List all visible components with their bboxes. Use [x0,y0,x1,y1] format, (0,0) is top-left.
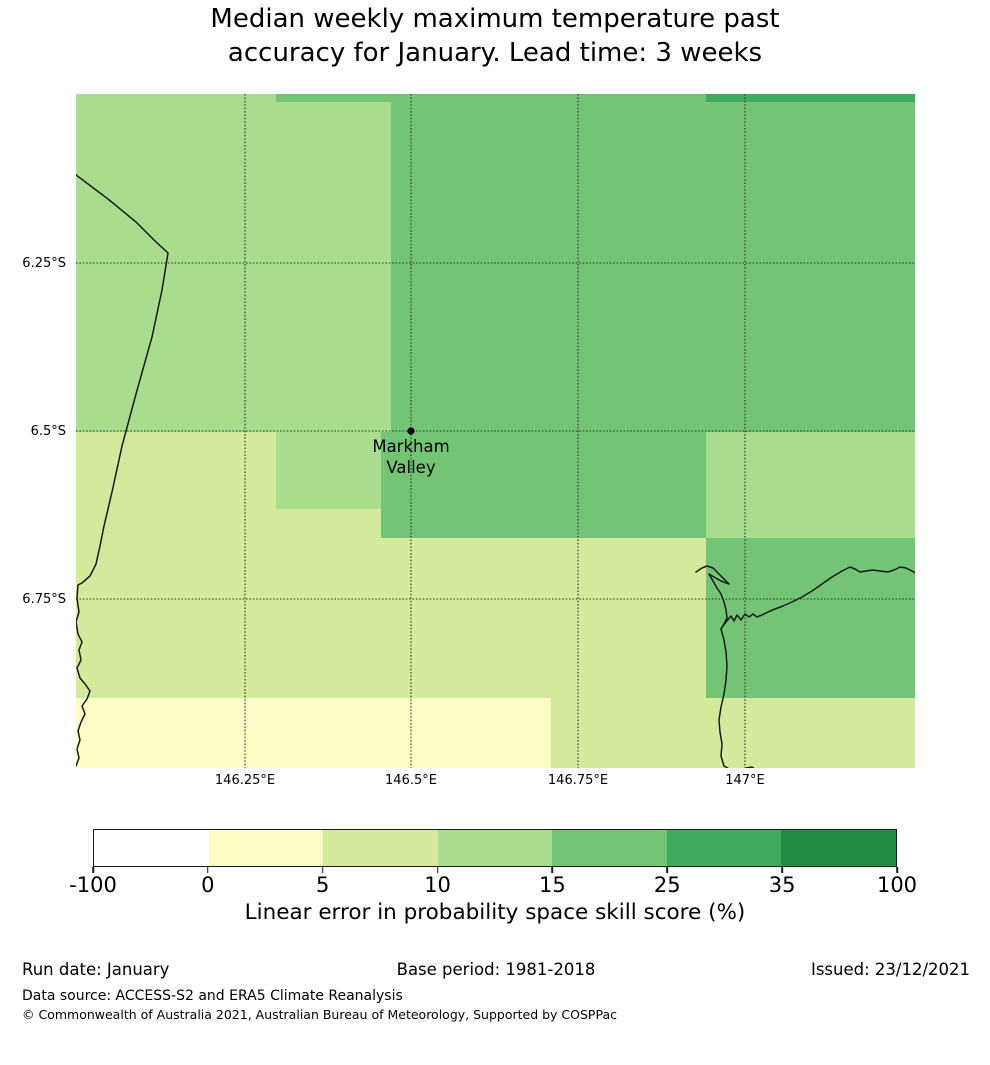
colorbar-ticklabel-5: 25 [654,873,681,897]
colorbar-segment-2 [323,830,438,866]
heatmap-cell [76,538,706,641]
colorbar-ticklabel-2: 5 [316,873,329,897]
page-title-line-2: accuracy for January. Lead time: 3 weeks [0,36,990,70]
footer-data-source: Data source: ACCESS-S2 and ERA5 Climate … [22,987,403,1005]
colorbar-gradient [93,829,897,867]
heatmap-cell [276,94,706,102]
colorbar-ticklabel-6: 35 [769,873,796,897]
xtick-label-146-25e: 146.25°E [215,774,275,787]
heatmap-cell [76,641,551,698]
heatmap-cell [391,94,915,432]
page-title: Median weekly maximum temperature past a… [0,2,990,70]
colorbar-ticklabel-7: 100 [877,873,917,897]
xtick-label-147e: 147°E [725,774,765,787]
colorbar-ticklabel-1: 0 [201,873,214,897]
page-title-line-1: Median weekly maximum temperature past [0,2,990,36]
colorbar-segment-5 [667,830,782,866]
colorbar [93,829,897,867]
heatmap-cell [381,432,706,538]
footer-copyright: © Commonwealth of Australia 2021, Austra… [22,1007,617,1023]
colorbar-segment-4 [552,830,667,866]
colorbar-ticklabel-0: -100 [69,873,117,897]
footer-primary-row: Run date: January Base period: 1981-2018… [22,960,970,982]
ytick-label-6-75s: 6.75°S [0,593,66,606]
xtick-label-146-75e: 146.75°E [548,774,608,787]
colorbar-segment-3 [438,830,553,866]
footer: Run date: January Base period: 1981-2018… [0,960,990,1030]
ytick-label-6-25s: 6.25°S [0,257,66,270]
colorbar-segment-1 [209,830,324,866]
colorbar-segment-6 [781,830,896,866]
colorbar-ticks: -1000510152535100 [93,867,897,895]
ytick-label-6-5s: 6.5°S [0,425,66,438]
heatmap-cell [706,641,915,698]
map-plot-area[interactable] [76,94,915,768]
heatmap-cell [76,94,276,102]
xtick-label-146-5e: 146.5°E [385,774,437,787]
heatmap-cell [706,94,915,102]
colorbar-segment-0 [94,830,209,866]
heatmap-cell [551,698,915,768]
heatmap-cell [76,698,551,768]
colorbar-ticklabel-4: 15 [539,873,566,897]
skill-score-heatmap [76,94,915,768]
colorbar-title: Linear error in probability space skill … [0,900,990,926]
colorbar-ticklabel-3: 10 [424,873,451,897]
heatmap-cell [76,509,381,538]
footer-issued-date: Issued: 23/12/2021 [811,960,970,980]
place-marker-dot [407,427,414,434]
heatmap-cell [706,538,915,641]
heatmap-cell [706,432,915,538]
